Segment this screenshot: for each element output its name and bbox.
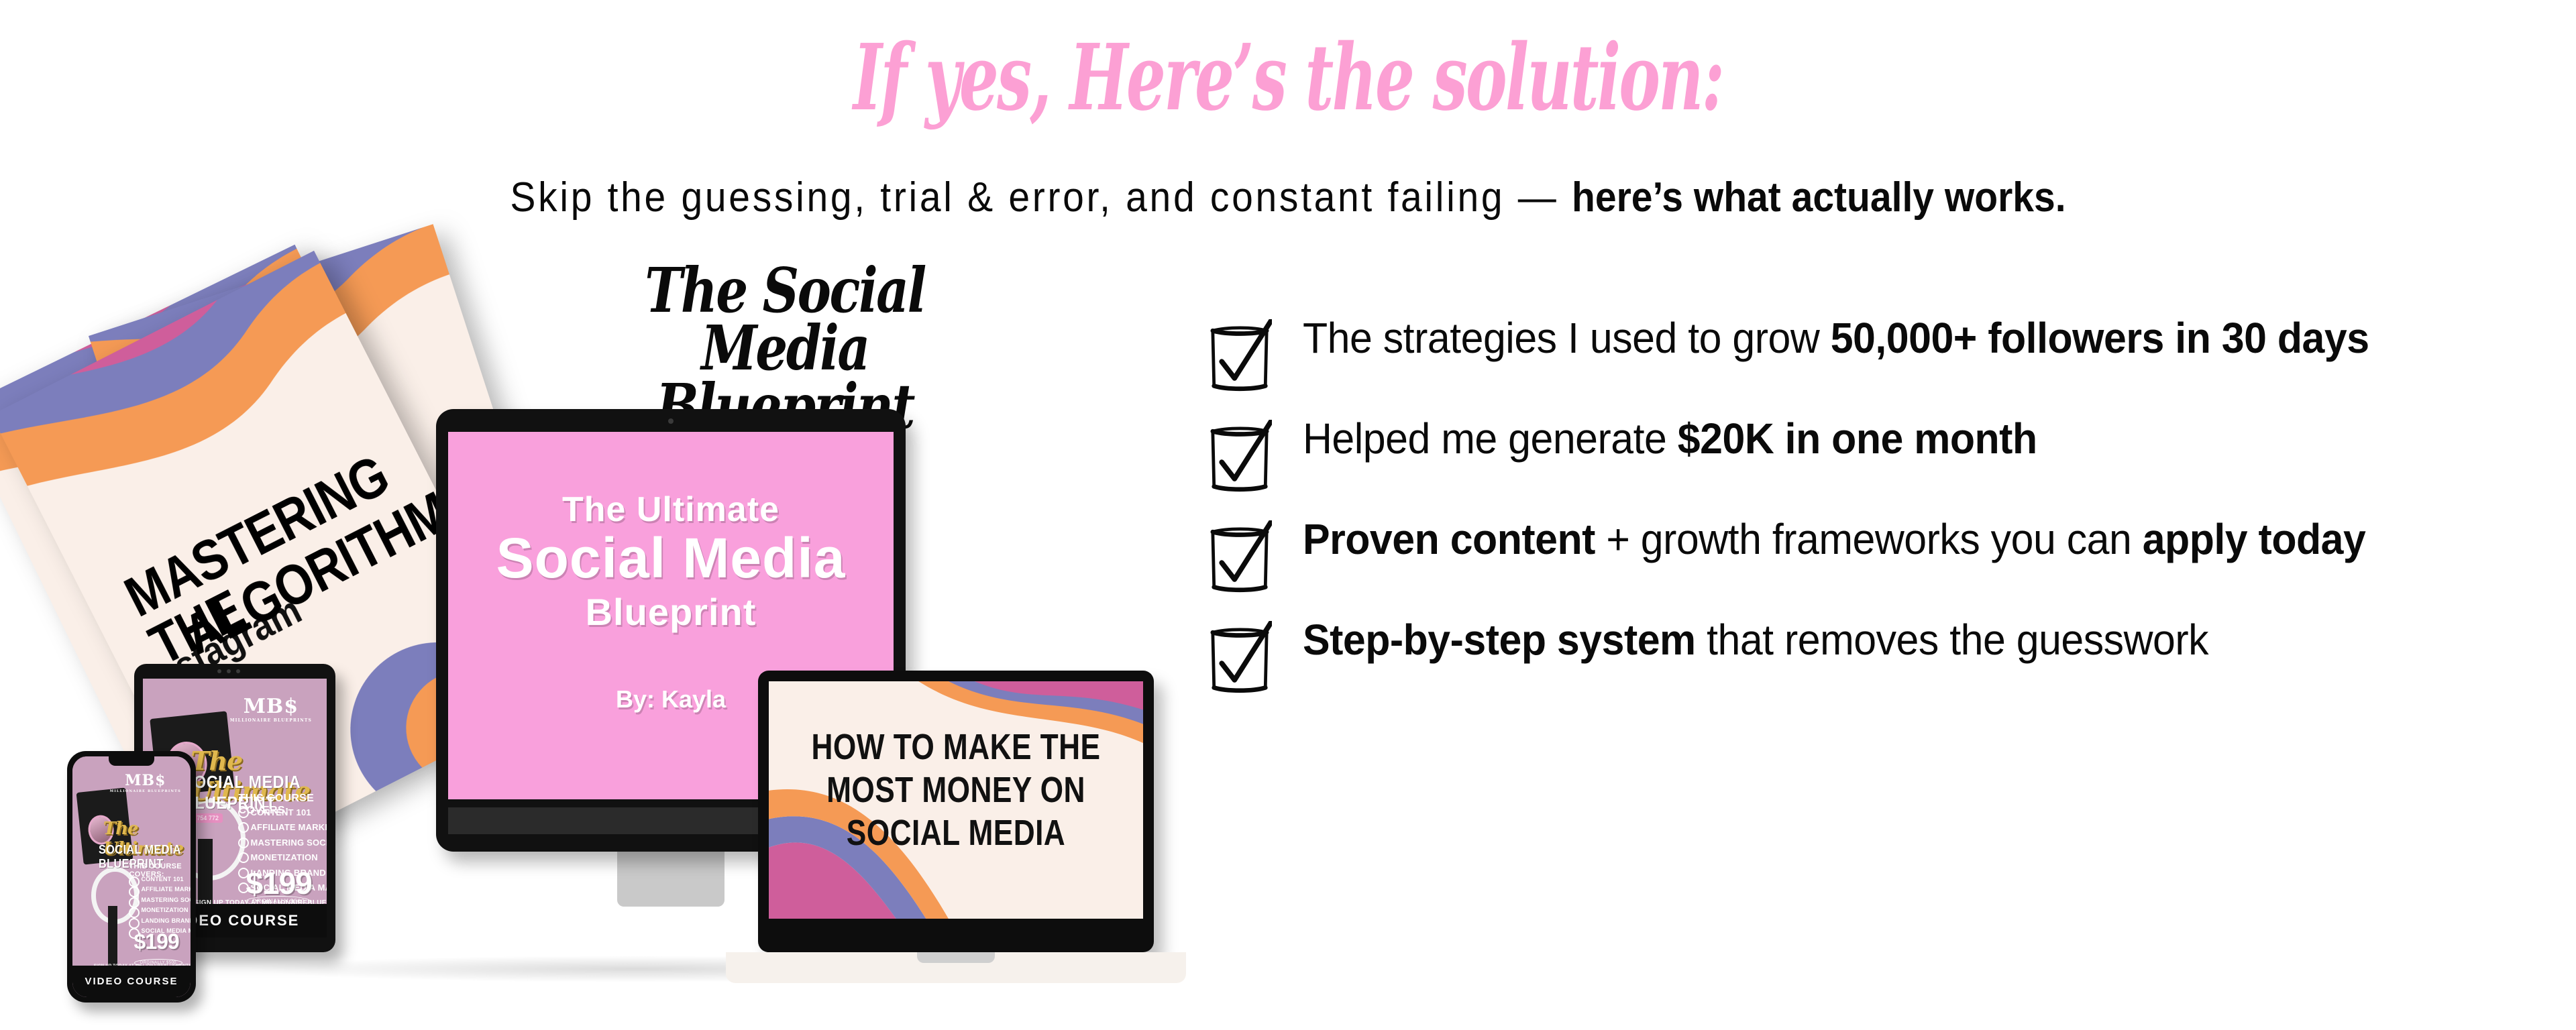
phone-mockup: MB$ MILLIONAIRE BLUEPRINTS The Ultimate …: [67, 751, 196, 1003]
subheadline-normal: Skip the guessing, trial & error, and co…: [510, 174, 1572, 221]
cover-covers-list: CONTENT 101 AFFILIATE MARKETING MASTERIN…: [129, 874, 191, 937]
checklist-text-normal: + growth frameworks you can: [1595, 515, 2143, 563]
brand-subtitle: MILLIONAIRE BLUEPRINTS: [110, 789, 181, 793]
subheadline-bold: here’s what actually works.: [1572, 174, 2066, 221]
checklist-item-text: Helped me generate $20K in one month: [1303, 416, 2037, 462]
checklist-item: Proven content + growth frameworks you c…: [1207, 516, 2542, 594]
checklist-item: Helped me generate $20K in one month: [1207, 416, 2542, 494]
monitor-stand: [617, 846, 724, 907]
checklist-text-bold: Proven content: [1303, 515, 1595, 563]
laptop-mockup: HOW TO MAKE THE MOST MONEY ON SOCIAL MED…: [758, 671, 1154, 952]
tablet-camera-icon: [217, 669, 240, 673]
checklist-text-bold: 50,000+ followers in 30 days: [1831, 314, 2369, 362]
checklist-item-text: The strategies I used to grow 50,000+ fo…: [1303, 315, 2369, 361]
list-item: MONETIZATION: [129, 905, 191, 915]
product-mockup-stage: GE ose from for the or batch eek before …: [40, 241, 1167, 992]
list-item: LANDING BRAND DEALS: [129, 916, 191, 926]
promo-page: If yes, Here’s the solution: Skip the gu…: [0, 0, 2576, 1030]
page-headline: If yes, Here’s the solution:: [412, 32, 2163, 123]
checklist-item-text: Proven content + growth frameworks you c…: [1303, 516, 2365, 563]
laptop-notch: [917, 952, 995, 963]
checklist-text-normal: that removes the guesswork: [1696, 616, 2208, 664]
checklist-text-normal: The strategies I used to grow: [1303, 314, 1831, 362]
checklist-text-bold: Step-by-step system: [1303, 616, 1696, 664]
checklist-item: The strategies I used to grow 50,000+ fo…: [1207, 315, 2542, 393]
laptop-line3: SOCIAL MEDIA: [802, 813, 1110, 853]
checklist-item-text: Step-by-step system that removes the gue…: [1303, 617, 2208, 663]
webcam-icon: [668, 418, 674, 424]
checkbox-checked-icon: [1207, 319, 1272, 393]
monitor-line1: The Ultimate: [448, 490, 894, 530]
checklist-text-normal: Helped me generate: [1303, 414, 1678, 463]
list-item: MASTERING SOCIAL MEDIA: [238, 836, 327, 850]
cover-video-badge: VIDEO COURSE: [72, 966, 191, 997]
laptop-line1: HOW TO MAKE THE: [802, 727, 1110, 767]
checkbox-checked-icon: [1207, 621, 1272, 695]
list-item: AFFILIATE MARKETING: [129, 884, 191, 895]
product-title-line1: The Social Media: [592, 262, 977, 378]
list-item: MASTERING SOCIAL MEDIA: [129, 895, 191, 905]
checklist-text-bold: apply today: [2143, 515, 2366, 563]
monitor-line2: Social Media: [448, 526, 894, 591]
course-cover-art: MB$ MILLIONAIRE BLUEPRINTS The Ultimate …: [72, 756, 191, 997]
laptop-screen: HOW TO MAKE THE MOST MONEY ON SOCIAL MED…: [769, 681, 1143, 919]
benefits-checklist: The strategies I used to grow 50,000+ fo…: [1207, 315, 2542, 718]
phone-notch: [109, 756, 154, 766]
phone-screen: MB$ MILLIONAIRE BLUEPRINTS The Ultimate …: [72, 756, 191, 997]
checklist-item: Step-by-step system that removes the gue…: [1207, 617, 2542, 695]
checkbox-checked-icon: [1207, 420, 1272, 494]
brand-mark: MB$: [110, 773, 181, 788]
brand-logo: MB$ MILLIONAIRE BLUEPRINTS: [110, 773, 181, 793]
list-item: MONETIZATION: [238, 850, 327, 865]
cover-price: $199: [134, 929, 179, 954]
checkbox-checked-icon: [1207, 520, 1272, 594]
brand-subtitle: MILLIONAIRE BLUEPRINTS: [230, 718, 312, 723]
brand-mark: MB$: [230, 697, 312, 717]
list-item: CONTENT 101: [129, 874, 191, 884]
brand-logo: MB$ MILLIONAIRE BLUEPRINTS: [230, 697, 312, 723]
laptop-line2: MOST MONEY ON: [802, 770, 1110, 810]
list-item: AFFILIATE MARKETING: [238, 820, 327, 835]
list-item: CONTENT 101: [238, 805, 327, 820]
monitor-line3: Blueprint: [448, 590, 894, 634]
checklist-text-bold: $20K in one month: [1678, 414, 2037, 463]
